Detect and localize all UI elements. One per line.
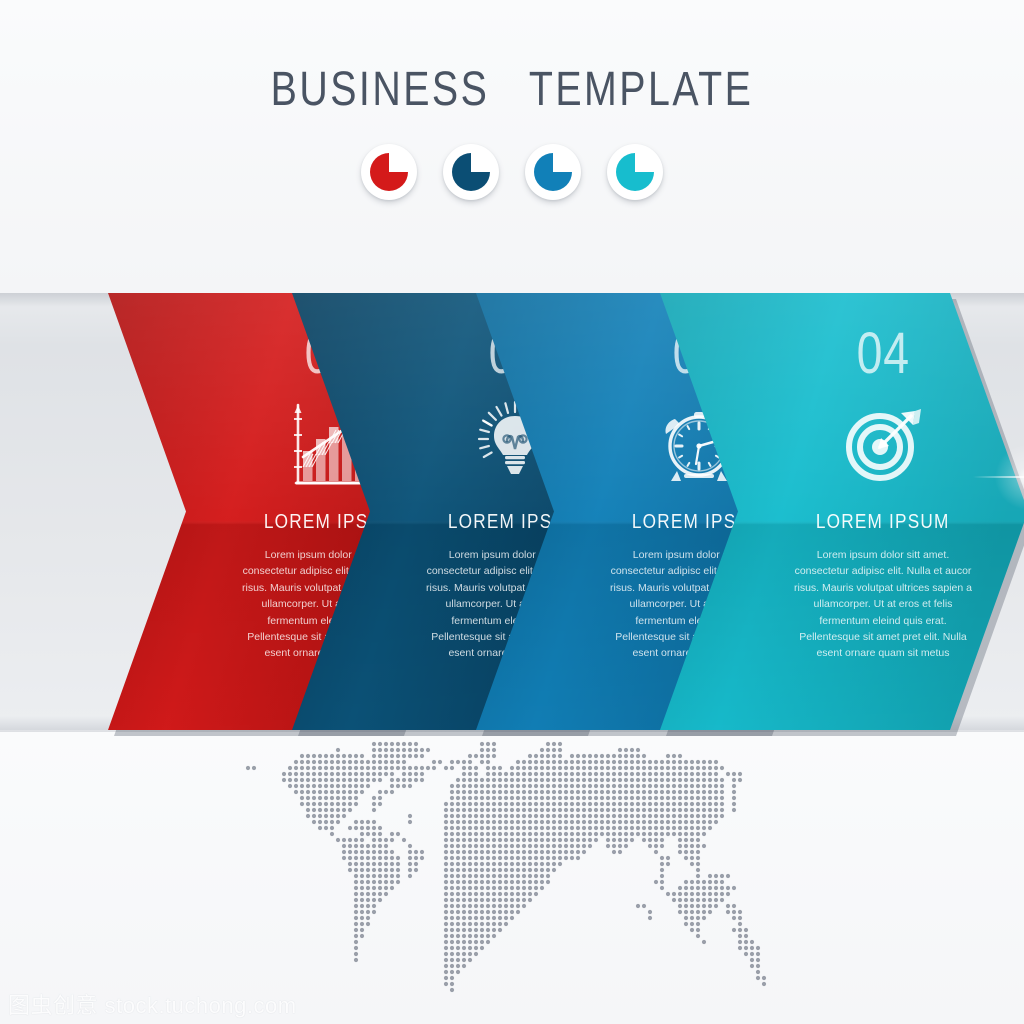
pie-chart-icon-cyan [616,153,654,191]
chevron-panel-04[interactable]: 04LOREM IPSUMLorem ipsum dolor sitt amet… [660,293,1024,730]
chevron-shape [660,293,1024,730]
pie-chart-icon-blue [534,153,572,191]
pie-chart-icon-red [370,153,408,191]
page-title: BUSINESS TEMPLATE [92,62,932,117]
chevron-panel-strip: 01LOREM IPSUMLorem ipsum dolor sitt amet… [0,293,1024,730]
pie-icon-button-2[interactable] [443,144,499,200]
pie-icon-button-4[interactable] [607,144,663,200]
pie-chart-icon-navy [452,153,490,191]
pie-icon-button-1[interactable] [361,144,417,200]
pie-icon-button-3[interactable] [525,144,581,200]
pie-icon-row [0,144,1024,200]
dotted-world-map [245,735,785,1005]
watermark: 图虫创意 stock.tuchong.com [8,988,297,1020]
infographic-canvas: BUSINESS TEMPLATE 01LOREM IPSUMLorem ips… [0,0,1024,1024]
